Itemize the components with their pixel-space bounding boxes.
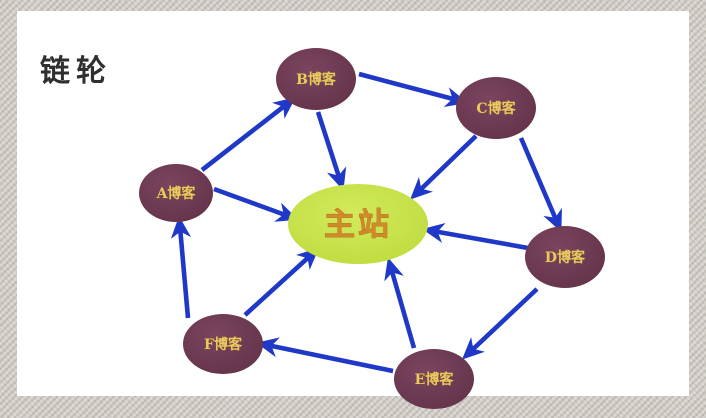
arrow-E-to-F: [267, 345, 393, 371]
arrow-A-to-hub: [214, 189, 288, 216]
blog-node-D[interactable]: D博客: [525, 226, 605, 288]
arrow-F-to-A: [180, 227, 188, 318]
link-wheel-diagram: A博客B博客C博客D博客E博客F博客主站: [0, 0, 706, 418]
arrow-B-to-C: [359, 74, 457, 100]
node-label-F: F博客: [204, 336, 243, 353]
arrow-D-to-E: [470, 289, 537, 352]
arrow-C-to-hub: [418, 136, 476, 192]
hub-label-hub: 主站: [324, 207, 392, 243]
arrow-C-to-D: [521, 138, 557, 222]
arrow-F-to-hub: [245, 255, 311, 315]
blog-node-A[interactable]: A博客: [139, 164, 213, 222]
diagram-stage: 链轮 A博客B博客C博客D博客E博客F博客主站: [0, 0, 706, 418]
node-label-E: E博客: [415, 371, 455, 388]
node-label-C: C博客: [476, 100, 516, 117]
hub-node-hub[interactable]: 主站: [288, 184, 428, 264]
node-label-B: B博客: [296, 71, 337, 88]
node-label-A: A博客: [156, 185, 197, 202]
blog-node-F[interactable]: F博客: [183, 314, 263, 374]
blog-node-C[interactable]: C博客: [456, 77, 536, 139]
nodes-layer: A博客B博客C博客D博客E博客F博客主站: [139, 48, 605, 409]
arrow-E-to-hub: [391, 268, 414, 348]
node-label-D: D博客: [545, 249, 586, 266]
arrow-B-to-hub: [318, 112, 340, 180]
blog-node-E[interactable]: E博客: [394, 349, 474, 409]
arrow-A-to-B: [202, 104, 287, 170]
blog-node-B[interactable]: B博客: [276, 48, 356, 110]
arrow-D-to-hub: [433, 231, 528, 248]
